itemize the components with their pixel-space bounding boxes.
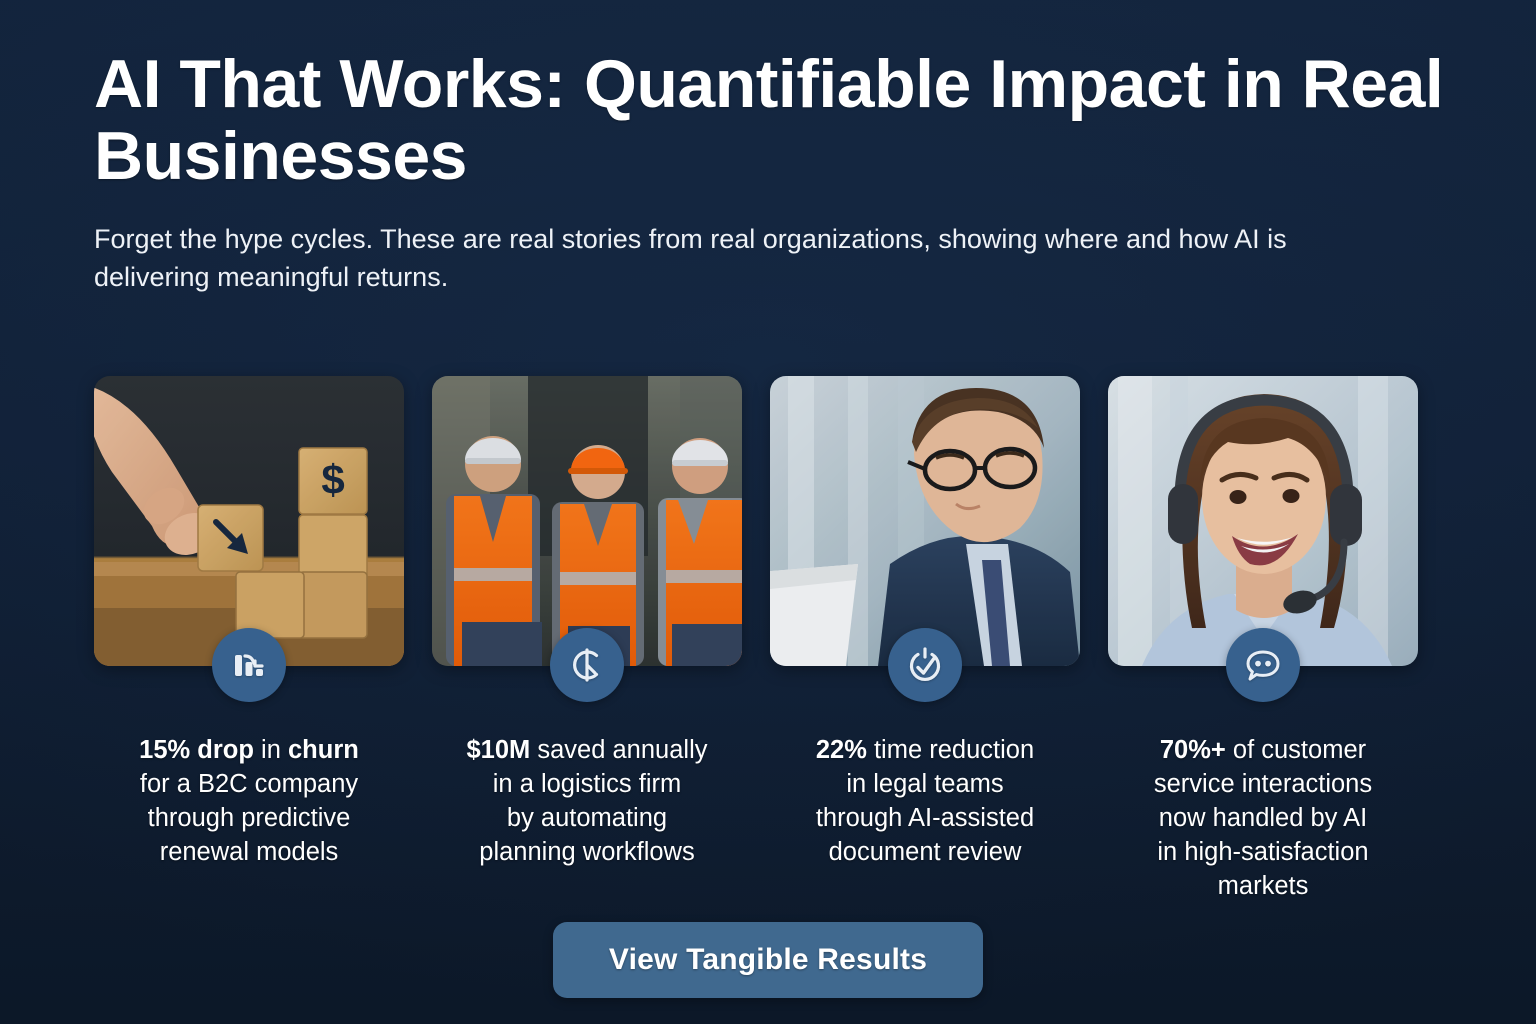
card-image-customer-service-agent — [1108, 376, 1418, 666]
stat-caption: $10M saved annually in a logistics firm … — [429, 734, 745, 870]
stat-caption: 22% time reduction in legal teams throug… — [767, 734, 1083, 870]
thumbnail-wrapper: $ — [94, 376, 404, 666]
stat-card[interactable]: 70%+ of customer service interactions no… — [1108, 376, 1418, 904]
stat-subject: churn — [288, 736, 359, 764]
stat-value: $10M — [466, 736, 530, 764]
thumbnail-wrapper — [432, 376, 742, 666]
stat-caption: 15% drop in churn for a B2C company thro… — [91, 734, 407, 870]
chat-bubble-icon — [1226, 628, 1300, 702]
view-tangible-results-button[interactable]: View Tangible Results — [553, 922, 983, 998]
thumbnail-wrapper — [1108, 376, 1418, 666]
header: AI That Works: Quantifiable Impact in Re… — [94, 48, 1464, 297]
stat-card[interactable]: $10M saved annually in a logistics firm … — [432, 376, 742, 904]
page-subtitle: Forget the hype cycles. These are real s… — [94, 220, 1394, 297]
stat-value: 15% drop — [139, 736, 254, 764]
stat-caption: 70%+ of customer service interactions no… — [1105, 734, 1421, 904]
thumbnail-wrapper — [770, 376, 1080, 666]
clock-timer-icon — [550, 628, 624, 702]
stat-value: 22% — [816, 736, 867, 764]
card-image-wooden-blocks: $ — [94, 376, 404, 666]
declining-bar-chart-icon — [212, 628, 286, 702]
card-image-construction-workers — [432, 376, 742, 666]
stat-value: 70%+ — [1160, 736, 1226, 764]
page-title: AI That Works: Quantifiable Impact in Re… — [94, 48, 1454, 192]
cta-row: View Tangible Results — [0, 922, 1536, 998]
infographic-page: AI That Works: Quantifiable Impact in Re… — [0, 0, 1536, 1024]
stopwatch-check-icon — [888, 628, 962, 702]
stat-card[interactable]: 22% time reduction in legal teams throug… — [770, 376, 1080, 904]
card-image-businessman-reviewing-document — [770, 376, 1080, 666]
stat-card[interactable]: $ — [94, 376, 404, 904]
stat-card-row: $ — [94, 376, 1446, 904]
